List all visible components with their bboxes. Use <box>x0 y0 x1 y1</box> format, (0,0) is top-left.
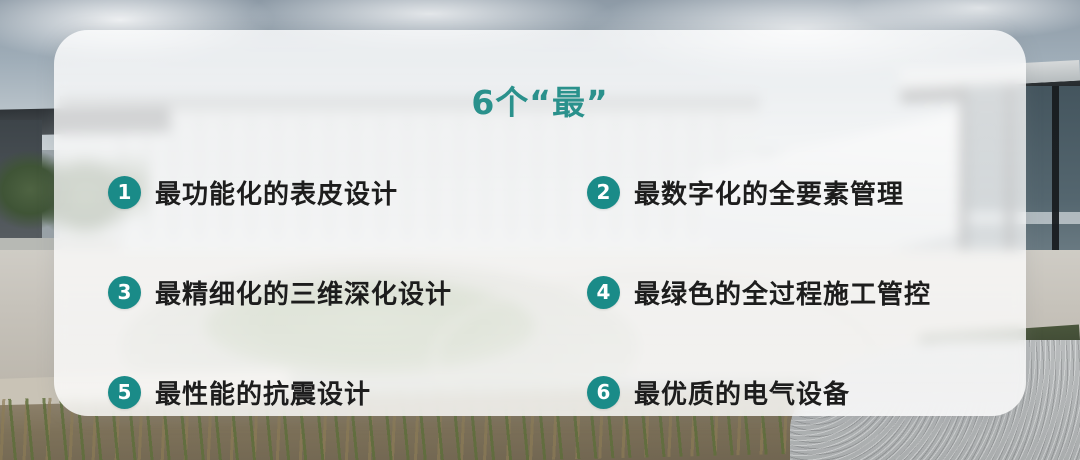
item-label: 最绿色的全过程施工管控 <box>634 274 931 311</box>
list-item: 4 最绿色的全过程施工管控 <box>520 242 986 342</box>
items-row: 3 最精细化的三维深化设计 4 最绿色的全过程施工管控 <box>54 242 1026 342</box>
list-item: 5 最性能的抗震设计 <box>54 342 520 416</box>
list-item: 2 最数字化的全要素管理 <box>520 142 986 242</box>
list-item: 6 最优质的电气设备 <box>520 342 986 416</box>
item-label: 最精细化的三维深化设计 <box>155 274 452 311</box>
item-label: 最性能的抗震设计 <box>155 374 371 411</box>
item-number-badge: 5 <box>108 376 141 409</box>
list-item: 1 最功能化的表皮设计 <box>54 142 520 242</box>
list-item: 3 最精细化的三维深化设计 <box>54 242 520 342</box>
item-label: 最功能化的表皮设计 <box>155 174 398 211</box>
item-number-badge: 6 <box>587 376 620 409</box>
item-label: 最数字化的全要素管理 <box>634 174 904 211</box>
items-row: 5 最性能的抗震设计 6 最优质的电气设备 <box>54 342 1026 416</box>
item-number-badge: 3 <box>108 276 141 309</box>
items-row: 1 最功能化的表皮设计 2 最数字化的全要素管理 <box>54 142 1026 242</box>
items-grid: 1 最功能化的表皮设计 2 最数字化的全要素管理 3 最精细化的三维深化设计 4… <box>54 142 1026 416</box>
screenshot-stage: 6个“最” 1 最功能化的表皮设计 2 最数字化的全要素管理 3 最精细化的三维… <box>0 0 1080 460</box>
item-number-badge: 1 <box>108 176 141 209</box>
item-label: 最优质的电气设备 <box>634 374 850 411</box>
item-number-badge: 2 <box>587 176 620 209</box>
item-number-badge: 4 <box>587 276 620 309</box>
content-card: 6个“最” 1 最功能化的表皮设计 2 最数字化的全要素管理 3 最精细化的三维… <box>54 30 1026 416</box>
card-title: 6个“最” <box>54 86 1026 119</box>
